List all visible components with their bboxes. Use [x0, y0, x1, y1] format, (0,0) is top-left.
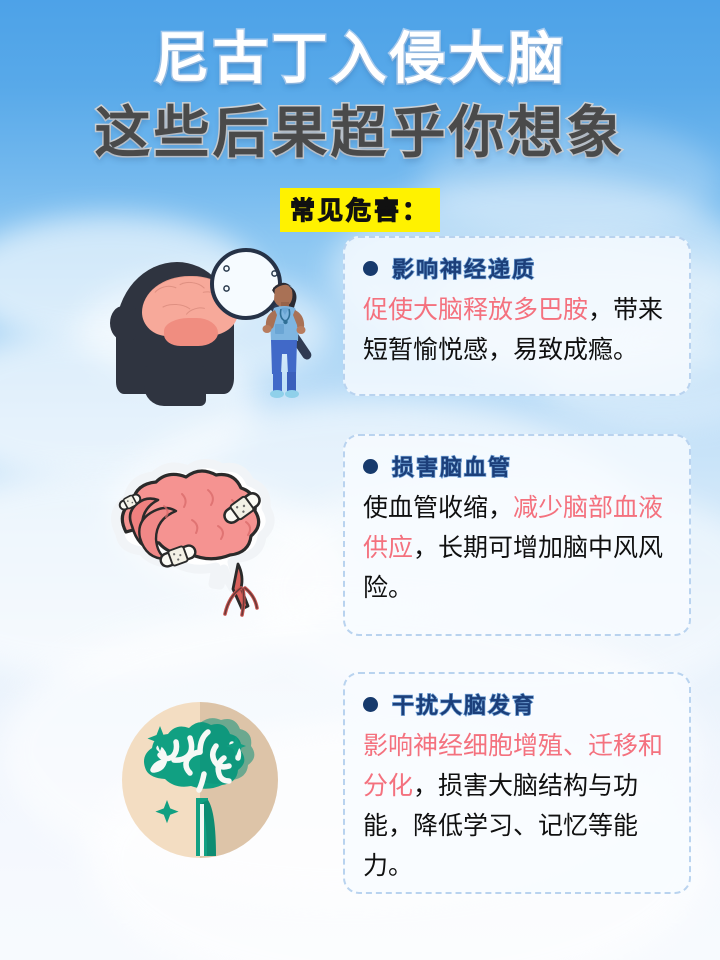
head-nose-shape — [110, 306, 136, 340]
teal-brain-circle-illustration — [112, 692, 288, 868]
card-header: 损害脑血管 — [363, 450, 671, 482]
harm-card-blood-vessels: 损害脑血管 使血管收缩，减少脑部血液供应，长期可增加脑中风风险。 — [343, 434, 691, 636]
card-title: 干扰大脑发育 — [392, 688, 536, 720]
harm-card-brain-development: 干扰大脑发育 影响神经细胞增殖、迁移和分化，损害大脑结构与功能，降低学习、记忆等… — [343, 672, 691, 894]
headline-line-2: 这些后果超乎你想象 — [0, 98, 720, 168]
card-body-plain: 使血管收缩， — [363, 494, 513, 522]
card-header: 影响神经递质 — [363, 252, 671, 284]
card-title: 影响神经递质 — [392, 252, 536, 284]
common-harms-label: 常见危害： — [280, 188, 440, 232]
card-body: 促使大脑释放多巴胺，带来短暂愉悦感，易致成瘾。 — [363, 290, 671, 370]
head-brain-magnifier-illustration — [92, 246, 324, 402]
card-header: 干扰大脑发育 — [363, 688, 671, 720]
poster-headline: 尼古丁入侵大脑 这些后果超乎你想象 — [0, 24, 720, 168]
brain-growth-icon — [112, 692, 288, 868]
head-neck-shape — [144, 366, 206, 406]
card-body-highlight: 促使大脑释放多巴胺 — [363, 296, 588, 324]
infographic-poster: 尼古丁入侵大脑 这些后果超乎你想象 常见危害： 影响神经递质 促使大脑释放多巴胺… — [0, 0, 720, 960]
card-body: 使血管收缩，减少脑部血液供应，长期可增加脑中风风险。 — [363, 488, 671, 608]
card-body: 影响神经细胞增殖、迁移和分化，损害大脑结构与功能，降低学习、记忆等能力。 — [363, 726, 671, 886]
bullet-dot-icon — [363, 459, 378, 474]
sublabel-container: 常见危害： — [0, 188, 720, 232]
dopamine-molecule-icon — [210, 248, 282, 320]
brain-sticker-icon — [96, 452, 332, 624]
headline-line-1: 尼古丁入侵大脑 — [0, 24, 720, 94]
bullet-dot-icon — [363, 697, 378, 712]
bullet-dot-icon — [363, 261, 378, 276]
harm-card-neurotransmitter: 影响神经递质 促使大脑释放多巴胺，带来短暂愉悦感，易致成瘾。 — [343, 236, 691, 396]
bandaged-brain-illustration — [96, 452, 332, 624]
card-title: 损害脑血管 — [392, 450, 512, 482]
